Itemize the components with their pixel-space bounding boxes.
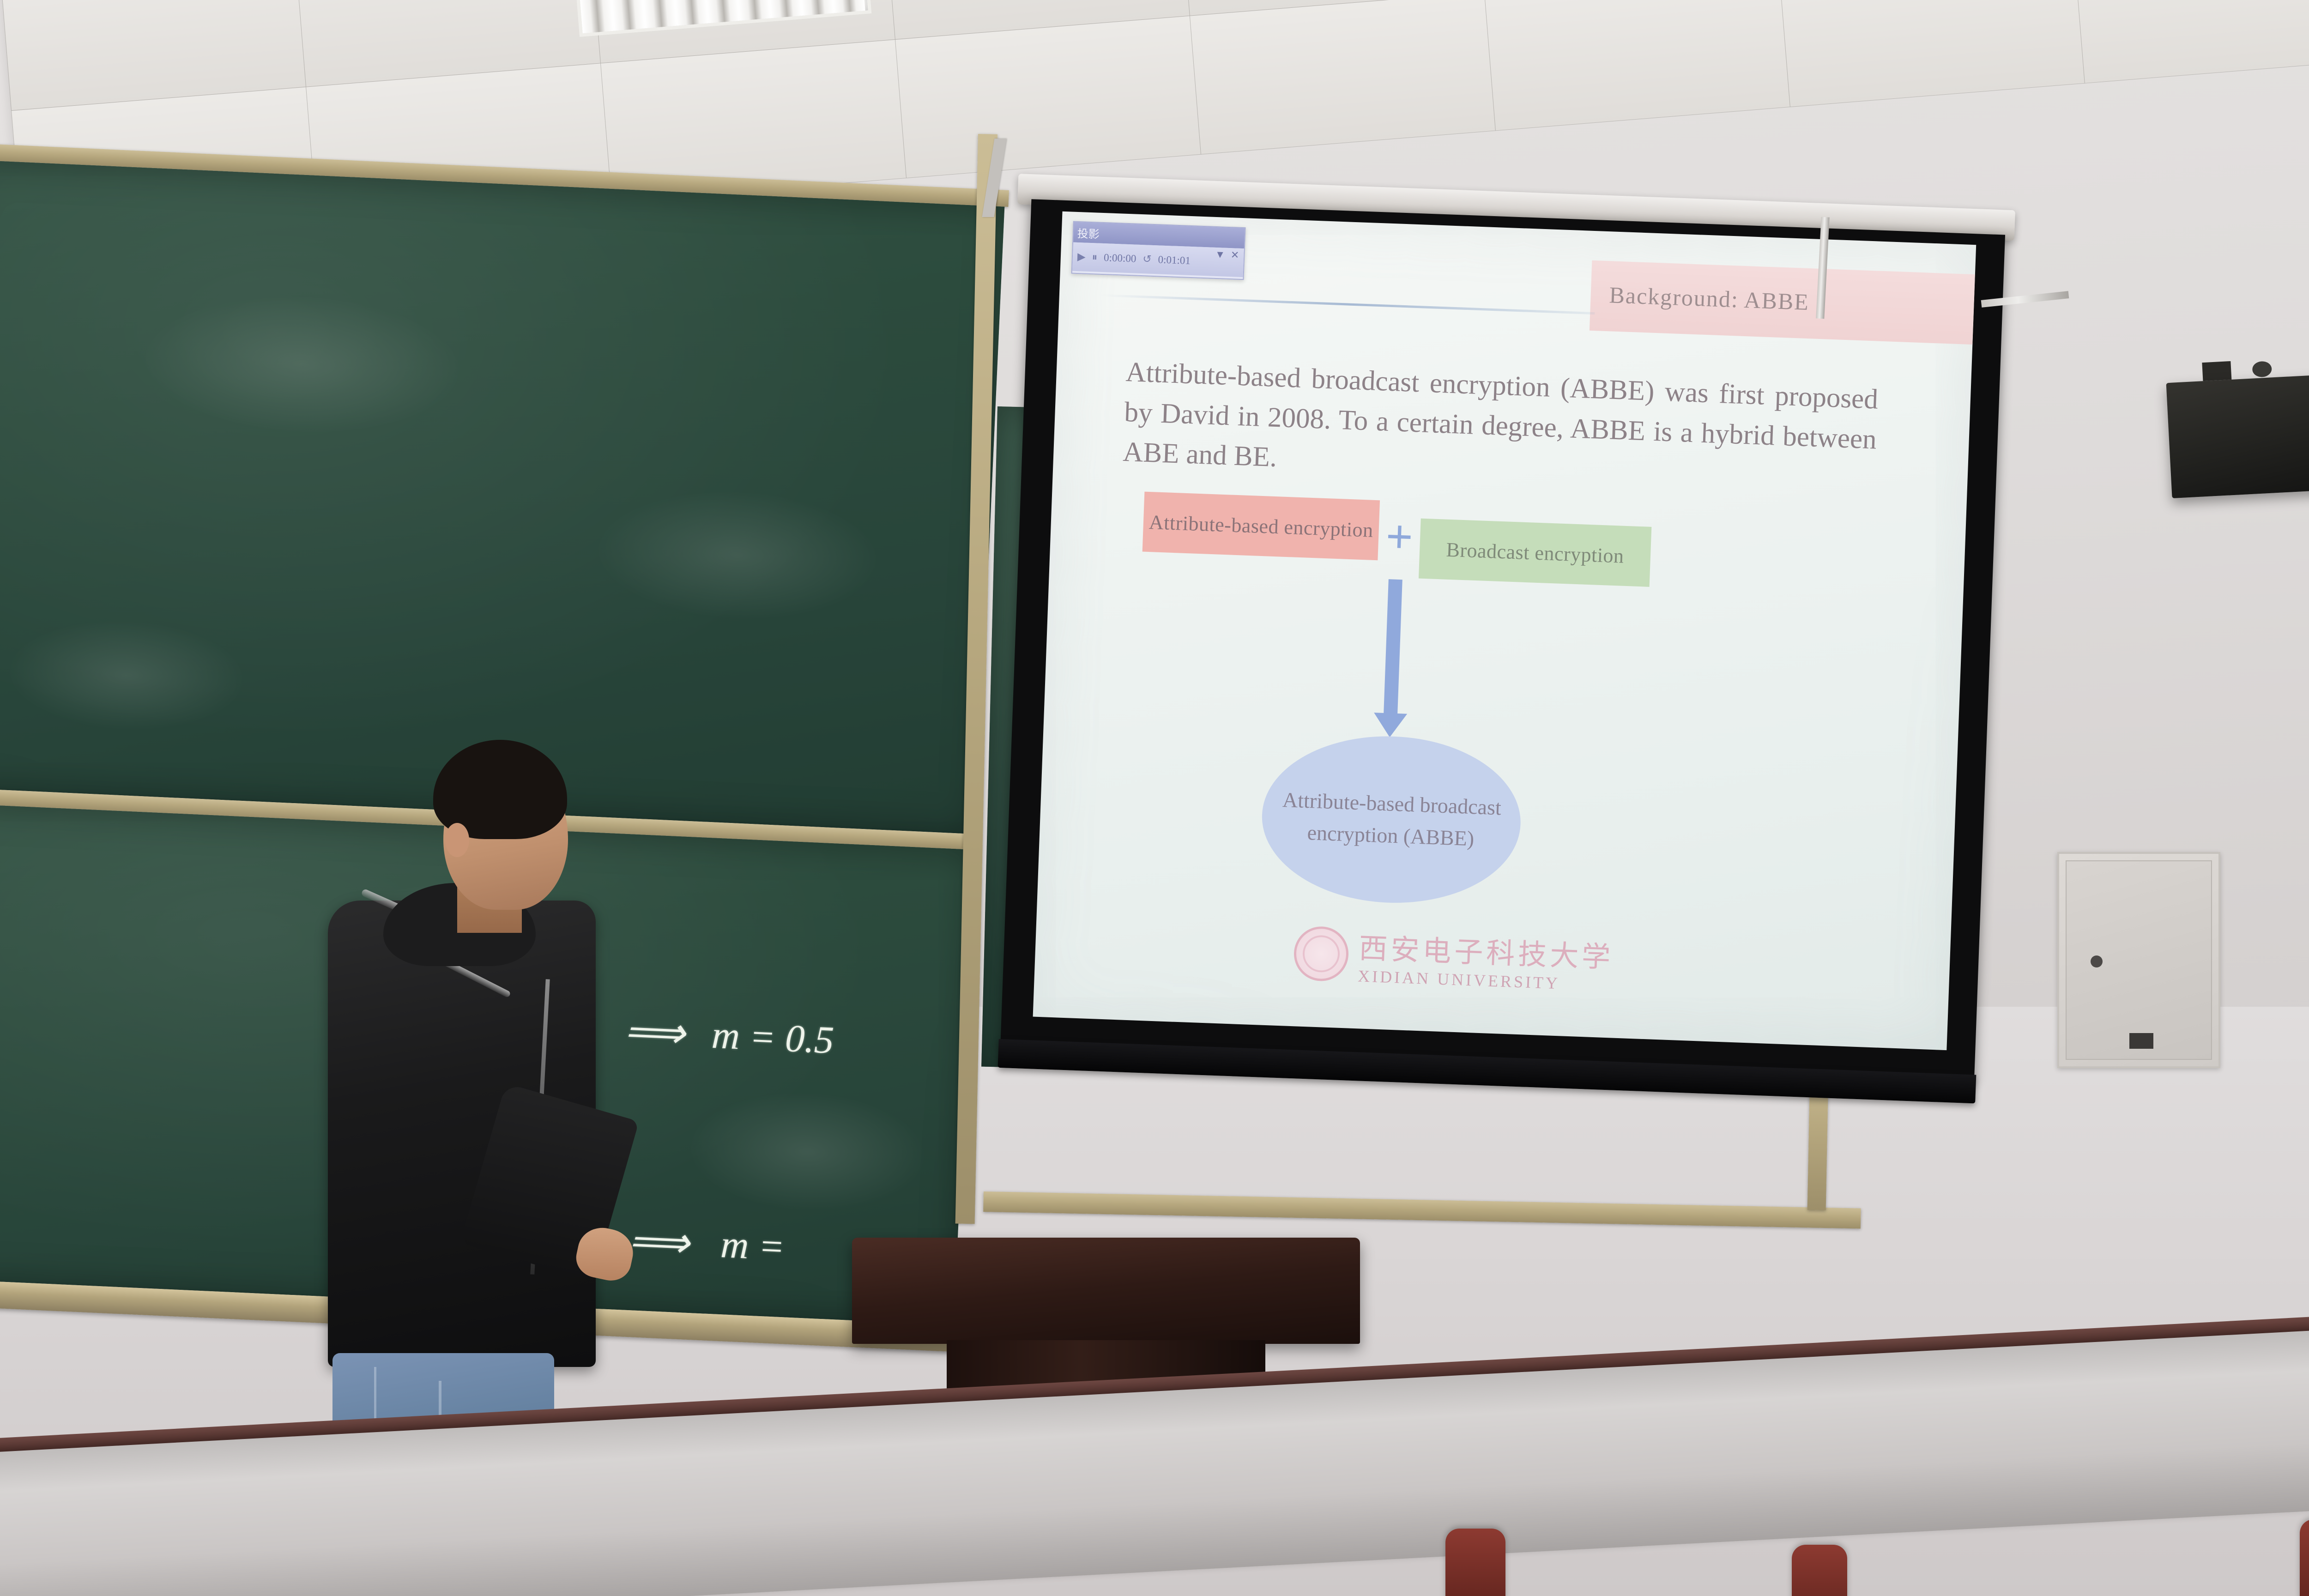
- close-icon[interactable]: ✕: [1230, 249, 1239, 261]
- slide-header-rule: [1101, 294, 1595, 314]
- lectern-top: [852, 1238, 1360, 1344]
- down-arrow-shaft: [1384, 579, 1402, 716]
- play-icon[interactable]: ▶: [1077, 251, 1086, 263]
- projection-screen: Background: ABBE Attribute-based broadca…: [1007, 180, 2043, 1144]
- plus-icon: +: [1378, 513, 1421, 561]
- chair-back: [1445, 1529, 1505, 1596]
- access-panel-label: [2129, 1033, 2153, 1049]
- chair-back-3: [2300, 1519, 2309, 1596]
- slide-body-text: Attribute-based broadcast encryption (AB…: [1122, 352, 1879, 500]
- media-elapsed-time: 0:00:00: [1104, 252, 1136, 265]
- wall-access-panel[interactable]: [2057, 852, 2220, 1068]
- box-label-abe: Attribute-based encryption: [1148, 510, 1373, 542]
- speaker-bracket: [2202, 361, 2231, 381]
- lecture-hall-photo: = m = 1 - x 1 - m = m ⟹ m = 0.5 1 - x 1 …: [0, 0, 2309, 1596]
- diagram-box-attribute-based-encryption: Attribute-based encryption: [1142, 492, 1380, 561]
- media-remaining-time: 0:01:01: [1158, 254, 1191, 267]
- down-arrow-head: [1373, 713, 1407, 738]
- diagram-ellipse-abbe: Attribute-based broadcast encryption (AB…: [1259, 732, 1523, 907]
- diagram-box-broadcast-encryption: Broadcast encryption: [1419, 519, 1651, 587]
- access-panel-door[interactable]: [2066, 860, 2212, 1060]
- xidian-crest-icon: [1293, 925, 1349, 982]
- slide-surface: Background: ABBE Attribute-based broadca…: [1033, 212, 1977, 1050]
- media-player-widget[interactable]: 投影 ▶ ⏸ 0:00:00 ↺ 0:01:01 ▼ ✕: [1071, 221, 1246, 280]
- minimize-icon[interactable]: ▼: [1215, 248, 1226, 261]
- university-logo: 西安电子科技大学 XIDIAN UNIVERSITY: [1293, 922, 1614, 995]
- pause-icon[interactable]: ⏸: [1092, 251, 1097, 263]
- access-panel-knob[interactable]: [2091, 955, 2103, 967]
- loop-icon[interactable]: ↺: [1142, 253, 1152, 266]
- chair-back-2: [1792, 1545, 1847, 1596]
- wall-speaker: GOODO: [2166, 372, 2309, 498]
- box-label-be: Broadcast encryption: [1446, 538, 1625, 568]
- presenter-ear: [445, 823, 469, 857]
